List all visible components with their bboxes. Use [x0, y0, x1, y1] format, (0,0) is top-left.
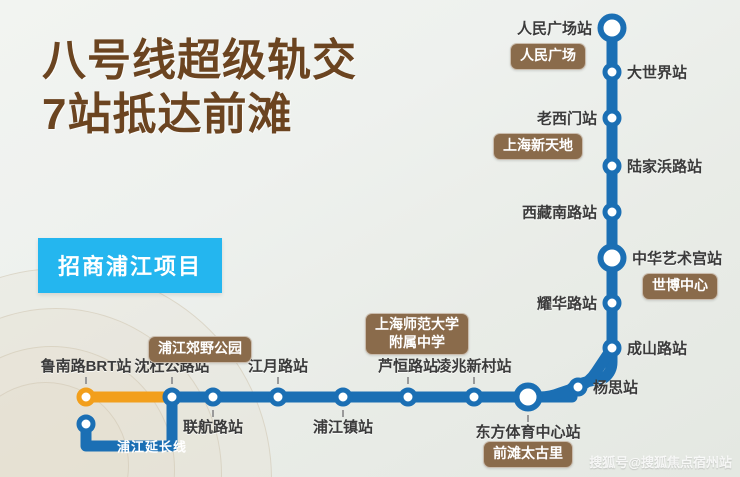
station-marker[interactable] [569, 378, 588, 397]
station-marker[interactable] [603, 339, 622, 358]
station-label: 芦恒路站 [378, 355, 438, 376]
watermark: 搜狐号@搜狐焦点宿州站 [589, 452, 732, 471]
station-marker[interactable] [603, 157, 622, 176]
station-marker[interactable] [603, 63, 622, 82]
station-label: 浦江镇站 [313, 416, 373, 437]
station-label: 江月路站 [248, 355, 308, 376]
station-label: 人民广场站 [517, 18, 592, 39]
label-tick [407, 377, 409, 384]
station-marker[interactable] [465, 388, 484, 407]
station-label: 凌兆新村站 [436, 355, 511, 376]
label-tick [171, 377, 173, 384]
label-tick [473, 377, 475, 384]
metro-map-infographic: 八号线超级轨交 7站抵达前滩 招商浦江项目 人民广场站大世界站老西门站陆家浜路站… [0, 0, 740, 477]
station-marker[interactable] [603, 109, 622, 128]
landmark-tag: 浦江郊野公园 [148, 336, 252, 363]
label-tick [85, 377, 87, 384]
station-marker[interactable] [163, 388, 182, 407]
station-label: 耀华路站 [537, 293, 597, 314]
station-marker[interactable] [269, 388, 288, 407]
landmark-tag: 前滩太古里 [483, 441, 573, 468]
landmark-tag: 上海师范大学附属中学 [365, 313, 469, 355]
station-label: 陆家浜路站 [627, 156, 702, 177]
station-label: 中华艺术宫站 [632, 248, 722, 269]
station-label: 西藏南路站 [522, 202, 597, 223]
station-marker[interactable] [77, 415, 96, 434]
station-marker[interactable] [603, 203, 622, 222]
station-marker[interactable] [204, 388, 223, 407]
station-label: 大世界站 [627, 62, 687, 83]
station-marker[interactable] [598, 244, 627, 273]
station-label: 老西门站 [537, 108, 597, 129]
station-label: 成山路站 [627, 338, 687, 359]
station-label: 东方体育中心站 [475, 421, 580, 442]
landmark-tag: 世博中心 [642, 273, 718, 300]
station-marker[interactable] [399, 388, 418, 407]
landmark-tag: 人民广场 [510, 43, 586, 70]
station-label: 鲁南路BRT站 [41, 355, 132, 376]
station-marker[interactable] [514, 383, 543, 412]
station-marker[interactable] [603, 294, 622, 313]
station-label: 联航路站 [183, 416, 243, 437]
landmark-tag: 上海新天地 [493, 133, 583, 160]
station-marker[interactable] [334, 388, 353, 407]
label-tick [277, 377, 279, 384]
branch-line-label: 浦江延长线 [117, 437, 187, 456]
station-label: 杨思站 [593, 377, 638, 398]
station-marker[interactable] [77, 388, 96, 407]
station-marker[interactable] [598, 14, 627, 43]
